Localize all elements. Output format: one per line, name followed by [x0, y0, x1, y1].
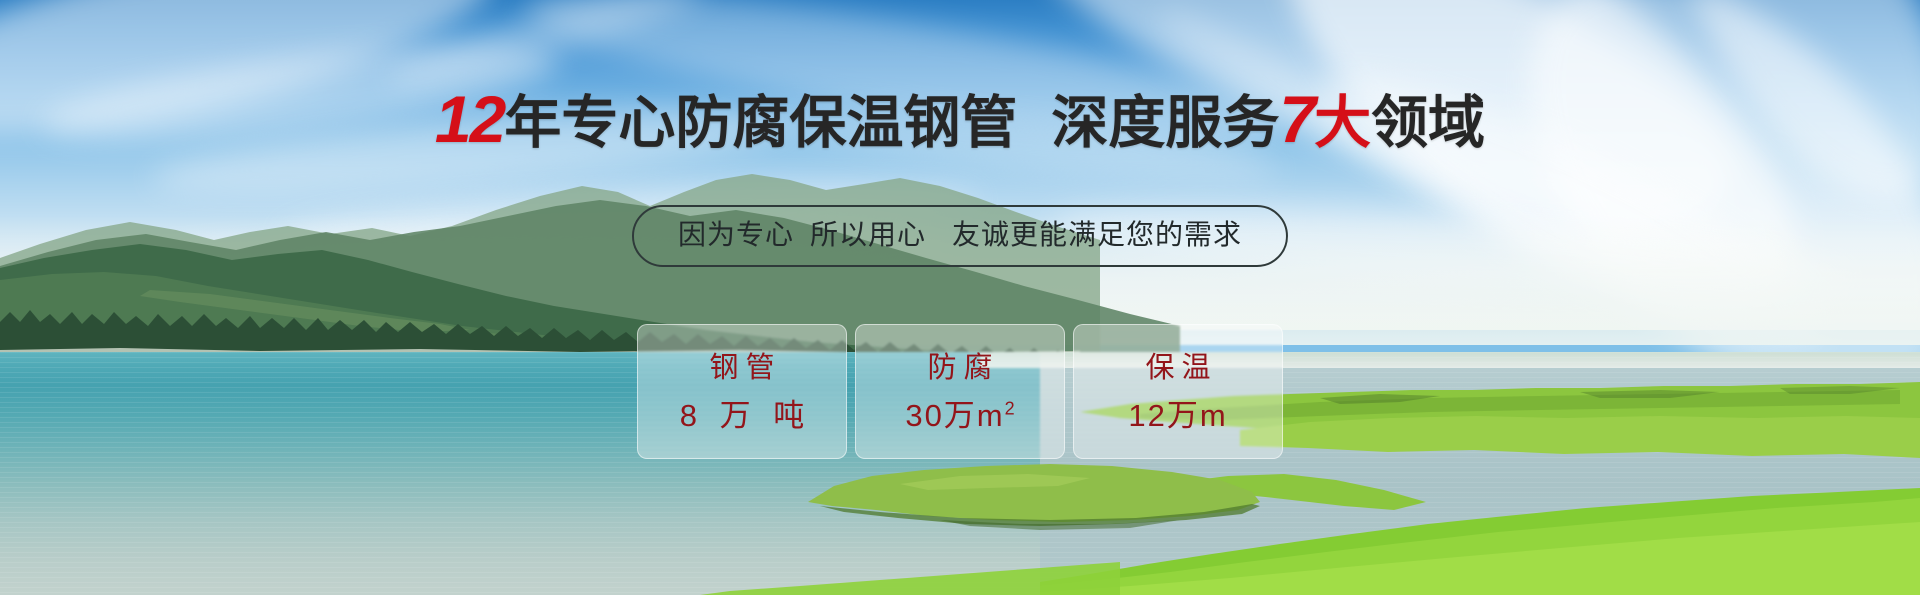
cloud-wisp — [381, 0, 709, 99]
stat-card-value: 12万m — [1128, 398, 1227, 434]
stat-card-value: 8 万 吨 — [673, 398, 811, 434]
subtitle-pill: 因为专心所以用心友诚更能满足您的需求 — [632, 205, 1288, 267]
stat-card-anticorrosion[interactable]: 防腐 30万m2 — [855, 324, 1065, 459]
headline: 12年专心防腐保温钢管深度服务7大领域 — [0, 88, 1920, 154]
stat-card-label: 保温 — [1138, 350, 1217, 386]
headline-years-number: 12 — [435, 82, 504, 156]
hero-banner: 12年专心防腐保温钢管深度服务7大领域 因为专心所以用心友诚更能满足您的需求 钢… — [0, 0, 1920, 595]
headline-segment-2: 深度服务 — [1051, 91, 1279, 155]
headline-segment-3: 大 — [1314, 91, 1371, 155]
subtitle-part-2: 所以用心 — [810, 219, 926, 250]
stat-card-steel-pipe[interactable]: 钢管 8 万 吨 — [637, 324, 847, 459]
headline-segment-1: 年专心防腐保温钢管 — [504, 91, 1017, 155]
stat-card-label: 钢管 — [702, 350, 781, 386]
stat-card-unit-exponent: 2 — [1005, 398, 1015, 418]
stat-card-value: 30万m2 — [905, 398, 1014, 434]
sky-background — [0, 0, 1920, 330]
headline-fields-number: 7 — [1279, 82, 1314, 156]
subtitle-part-1: 因为专心 — [678, 219, 794, 250]
stat-card-insulation[interactable]: 保温 12万m — [1073, 324, 1283, 459]
headline-segment-4: 领域 — [1371, 91, 1485, 155]
stat-card-group: 钢管 8 万 吨 防腐 30万m2 保温 12万m — [637, 324, 1283, 459]
stat-card-label: 防腐 — [920, 350, 999, 386]
subtitle-part-3: 友诚更能满足您的需求 — [952, 219, 1242, 250]
